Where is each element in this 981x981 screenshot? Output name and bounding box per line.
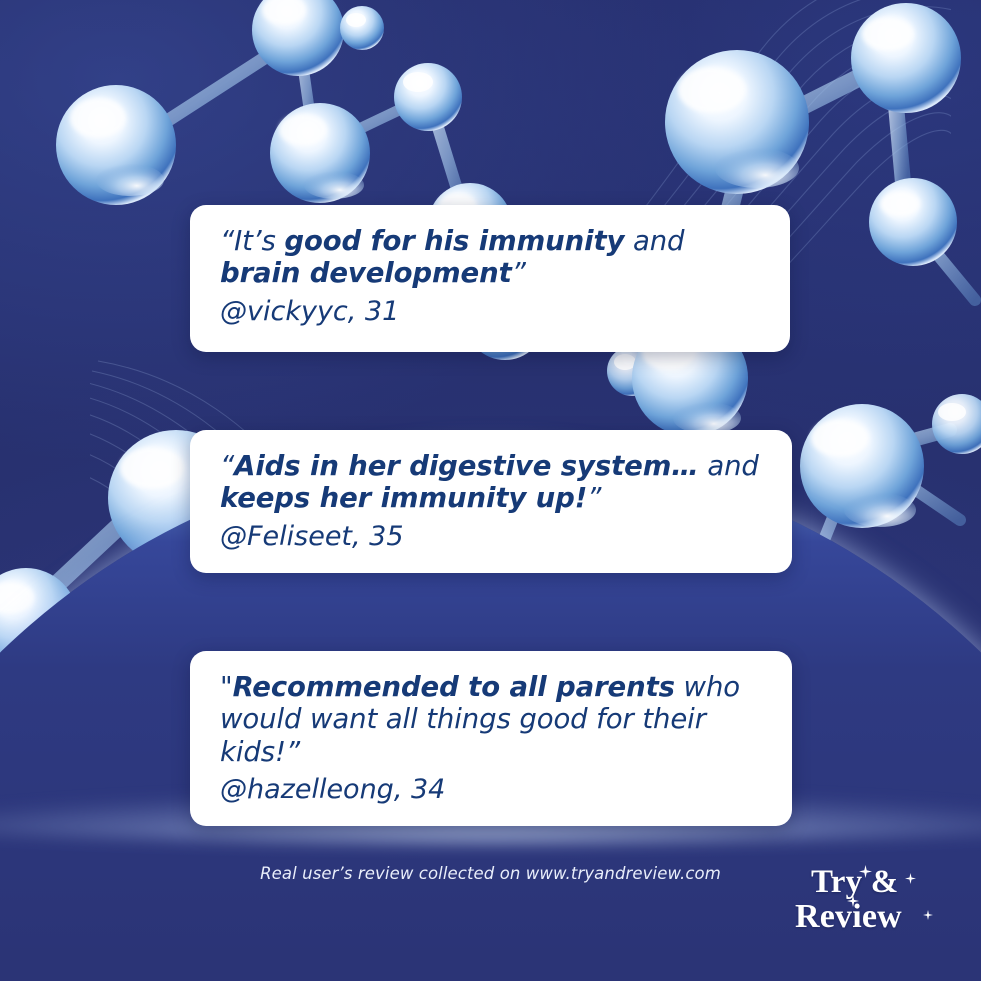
testimonial-handle: @hazelleong, 34 xyxy=(220,774,766,806)
quote-strong-2: keeps her immunity up! xyxy=(220,482,587,514)
testimonial-card: “Aids in her digestive system… and keeps… xyxy=(190,430,792,573)
logo-text-try: Try & xyxy=(811,864,898,900)
quote-lead: “It’s xyxy=(220,225,284,257)
quote-mid: and xyxy=(624,225,684,257)
testimonial-handle: @Feliseet, 35 xyxy=(220,521,766,553)
quote-strong-2: brain development xyxy=(220,257,512,289)
testimonial-poster: “It’s good for his immunity and brain de… xyxy=(0,0,981,981)
quote-lead: “ xyxy=(220,450,234,482)
testimonial-quote: “Aids in her digestive system… and keeps… xyxy=(220,450,766,515)
testimonial-list: “It’s good for his immunity and brain de… xyxy=(190,205,792,826)
testimonial-card: "Recommended to all parents who would wa… xyxy=(190,651,792,826)
sparkle-icon xyxy=(923,910,933,920)
quote-tail: ” xyxy=(587,482,601,514)
logo-line-1: Try & xyxy=(795,867,945,898)
testimonial-card: “It’s good for his immunity and brain de… xyxy=(190,205,790,352)
try-and-review-logo: Try & Review xyxy=(795,867,945,951)
quote-lead: " xyxy=(220,671,233,703)
quote-strong-1: Aids in her digestive system… xyxy=(234,450,699,482)
sparkle-icon xyxy=(905,873,916,884)
logo-line-2: Review xyxy=(795,901,945,933)
testimonial-quote: "Recommended to all parents who would wa… xyxy=(220,671,766,768)
quote-tail: ” xyxy=(286,736,300,768)
quote-mid: and xyxy=(699,450,759,482)
quote-strong-1: good for his immunity xyxy=(284,225,624,257)
quote-tail: ” xyxy=(512,257,526,289)
logo-text-review: Review xyxy=(795,898,902,935)
quote-strong-1: Recommended to all parents xyxy=(233,671,675,703)
testimonial-handle: @vickyyc, 31 xyxy=(220,296,764,328)
testimonial-quote: “It’s good for his immunity and brain de… xyxy=(220,225,764,290)
